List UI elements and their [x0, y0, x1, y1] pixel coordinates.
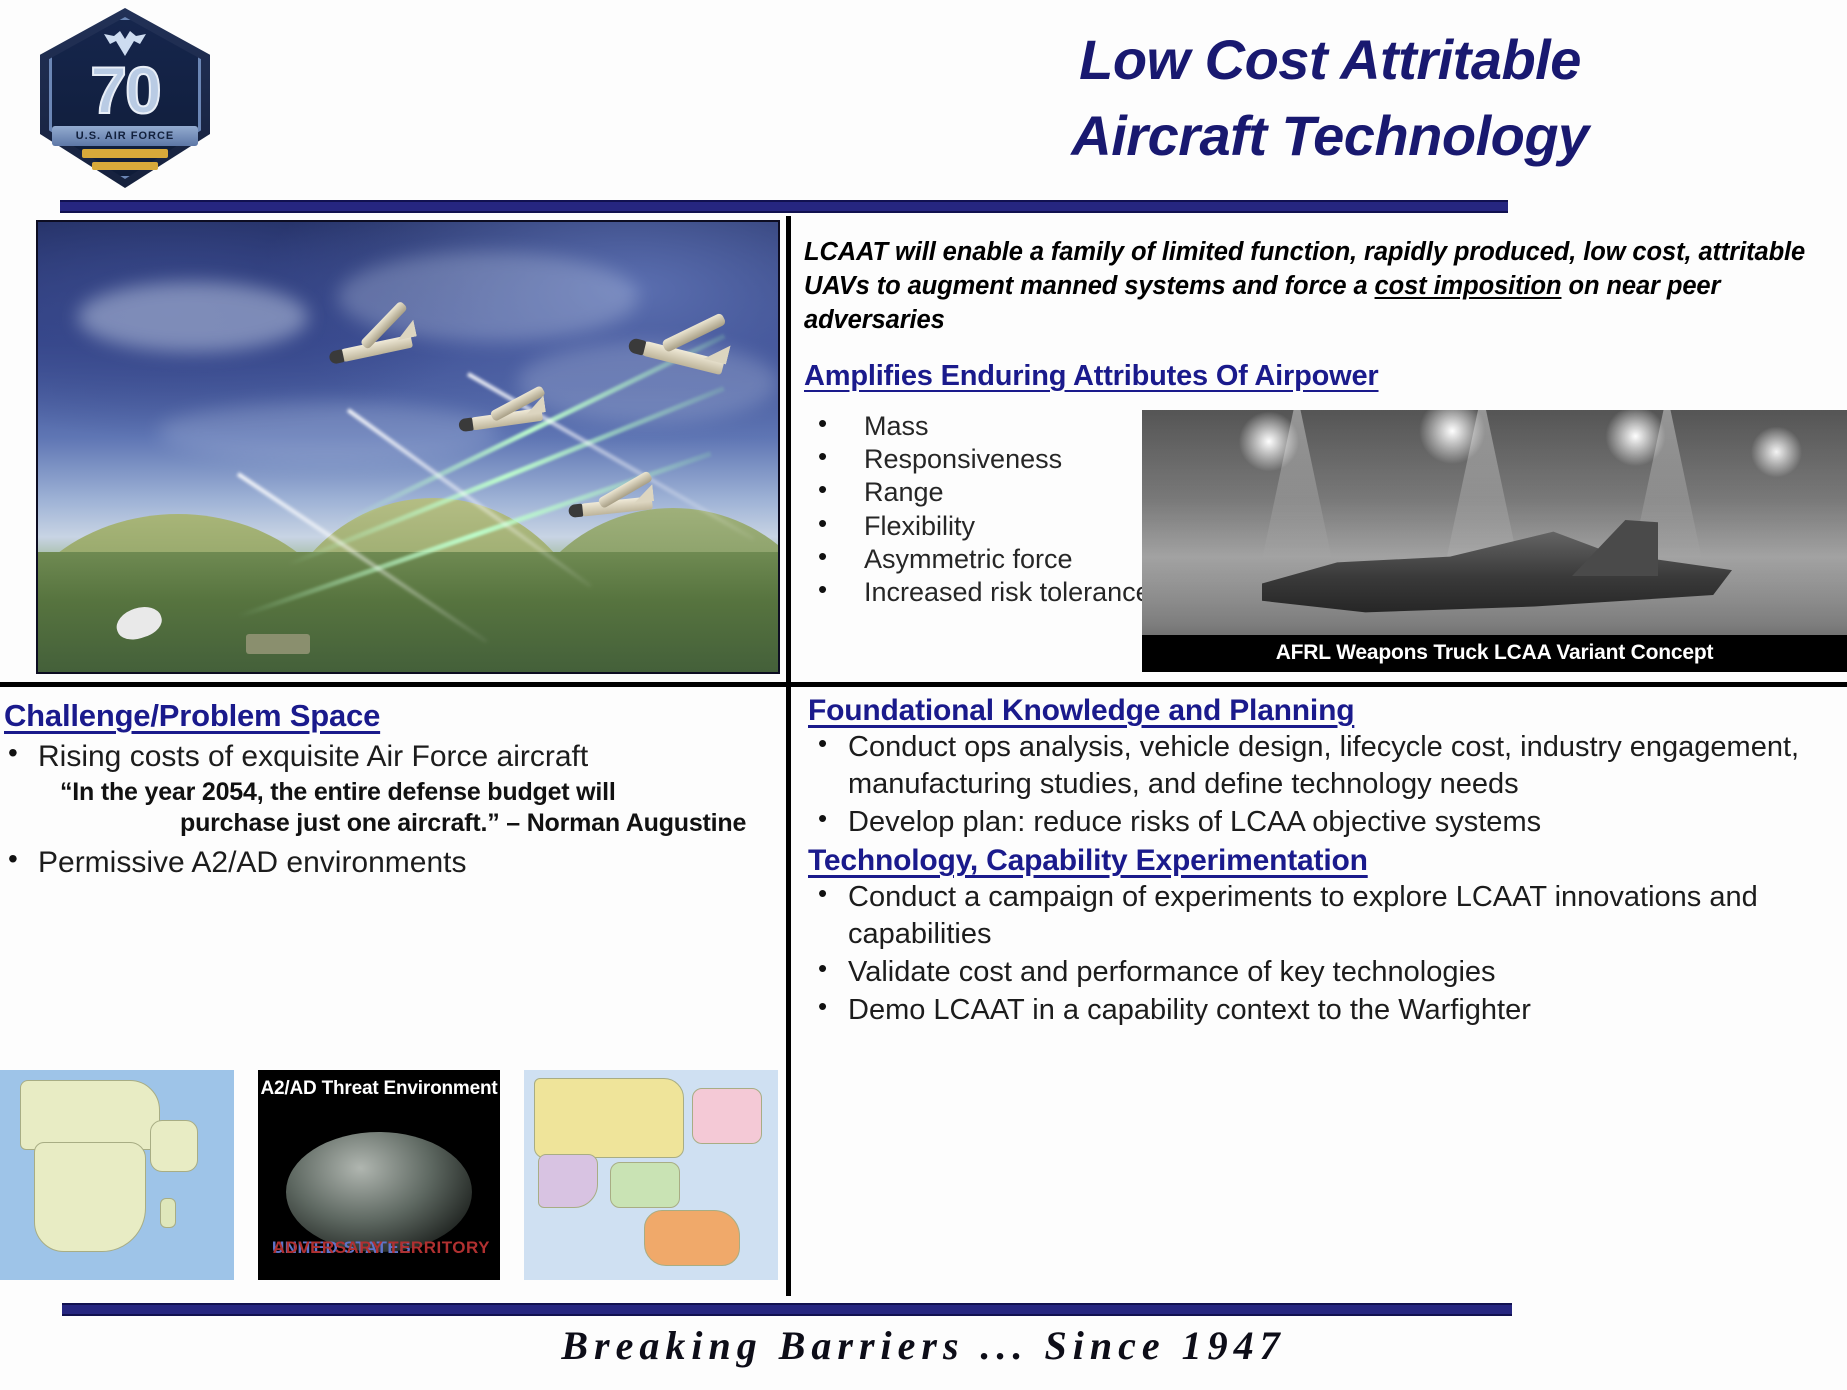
- afrl-weapons-truck-hangar-photo: AFRL Weapons Truck LCAA Variant Concept: [1142, 410, 1847, 672]
- anniversary-number: 70: [40, 52, 210, 128]
- globe-icon: [286, 1132, 472, 1252]
- photo-caption: AFRL Weapons Truck LCAA Variant Concept: [1142, 635, 1847, 672]
- ground-vehicle: [246, 634, 310, 654]
- vertical-divider: [786, 216, 791, 1296]
- map-landmass: [150, 1120, 198, 1172]
- approach-panel: Foundational Knowledge and Planning Cond…: [800, 688, 1847, 1292]
- list-item: Conduct a campaign of experiments to exp…: [808, 879, 1845, 953]
- challenge-panel: Challenge/Problem Space Rising costs of …: [0, 692, 782, 1292]
- map-landmass: [644, 1210, 740, 1266]
- title-line-2: Aircraft Technology: [840, 98, 1820, 174]
- page-title: Low Cost Attritable Aircraft Technology: [840, 22, 1820, 173]
- overview-panel: LCAAT will enable a family of limited fu…: [798, 224, 1847, 674]
- lead-paragraph: LCAAT will enable a family of limited fu…: [804, 236, 1839, 338]
- list-item: Rising costs of exquisite Air Force airc…: [4, 738, 778, 775]
- map-landmass: [534, 1078, 684, 1158]
- technology-experimentation-bullets: Conduct a campaign of experiments to exp…: [808, 879, 1845, 1028]
- attributes-heading: Amplifies Enduring Attributes Of Airpowe…: [804, 360, 1839, 393]
- foundational-knowledge-heading: Foundational Knowledge and Planning: [808, 694, 1845, 728]
- logo-ribbon-lower: [92, 162, 158, 170]
- region-image-strip: A2/AD Threat Environment UNITED STATES A…: [0, 1070, 782, 1288]
- title-line-1: Low Cost Attritable: [840, 22, 1820, 98]
- map-landmass: [20, 1080, 160, 1150]
- slide-header: 70 U.S. AIR FORCE Low Cost Attritable Ai…: [0, 0, 1847, 200]
- map-island: [160, 1198, 176, 1228]
- map-landmass: [34, 1142, 146, 1252]
- list-item: • Permissive A2/AD environments: [4, 844, 778, 881]
- list-item: Conduct ops analysis, vehicle design, li…: [808, 729, 1845, 803]
- lead-paragraph-emphasis: cost imposition: [1375, 272, 1562, 300]
- uav-swarm-concept-artwork: [36, 220, 780, 674]
- technology-experimentation-heading: Technology, Capability Experimentation: [808, 844, 1845, 878]
- footer-divider-rule: [62, 1303, 1512, 1316]
- augustine-quote-line-1: “In the year 2054, the entire defense bu…: [60, 777, 778, 808]
- header-divider-rule: [60, 200, 1508, 213]
- cloud: [78, 282, 308, 352]
- content-grid: LCAAT will enable a family of limited fu…: [0, 216, 1847, 1296]
- augustine-quote-line-2: purchase just one aircraft.” – Norman Au…: [180, 808, 778, 839]
- usaf-70th-anniversary-logo: 70 U.S. AIR FORCE: [40, 8, 210, 193]
- map-landmass: [692, 1088, 762, 1144]
- map-landmass: [538, 1154, 598, 1208]
- asia-pacific-region-map: [524, 1070, 778, 1280]
- a2ad-threat-environment-graphic: A2/AD Threat Environment UNITED STATES A…: [258, 1070, 500, 1280]
- africa-region-map: [0, 1070, 234, 1280]
- bullet-glyph: •: [8, 842, 18, 877]
- a2ad-graphic-title: A2/AD Threat Environment: [258, 1078, 500, 1100]
- logo-ribbon-upper: [82, 149, 168, 158]
- map-landmass: [610, 1162, 680, 1208]
- challenge-heading: Challenge/Problem Space: [4, 698, 778, 734]
- list-item: Demo LCAAT in a capability context to th…: [808, 992, 1845, 1029]
- horizontal-divider: [0, 682, 1847, 687]
- list-item-label: Permissive A2/AD environments: [38, 846, 467, 879]
- logo-band-text: U.S. AIR FORCE: [52, 126, 198, 146]
- label-adversary-territory: ADVERSARY TERRITORY: [273, 1239, 490, 1258]
- list-item: Develop plan: reduce risks of LCAA objec…: [808, 804, 1845, 841]
- foundational-knowledge-bullets: Conduct ops analysis, vehicle design, li…: [808, 729, 1845, 840]
- footer-tagline: Breaking Barriers ... Since 1947: [0, 1322, 1847, 1369]
- list-item: Validate cost and performance of key tec…: [808, 954, 1845, 991]
- slide-canvas: 70 U.S. AIR FORCE Low Cost Attritable Ai…: [0, 0, 1847, 1390]
- challenge-bullets: Rising costs of exquisite Air Force airc…: [4, 738, 778, 775]
- challenge-bullets-continued: • Permissive A2/AD environments: [4, 844, 778, 881]
- cloud: [158, 402, 498, 462]
